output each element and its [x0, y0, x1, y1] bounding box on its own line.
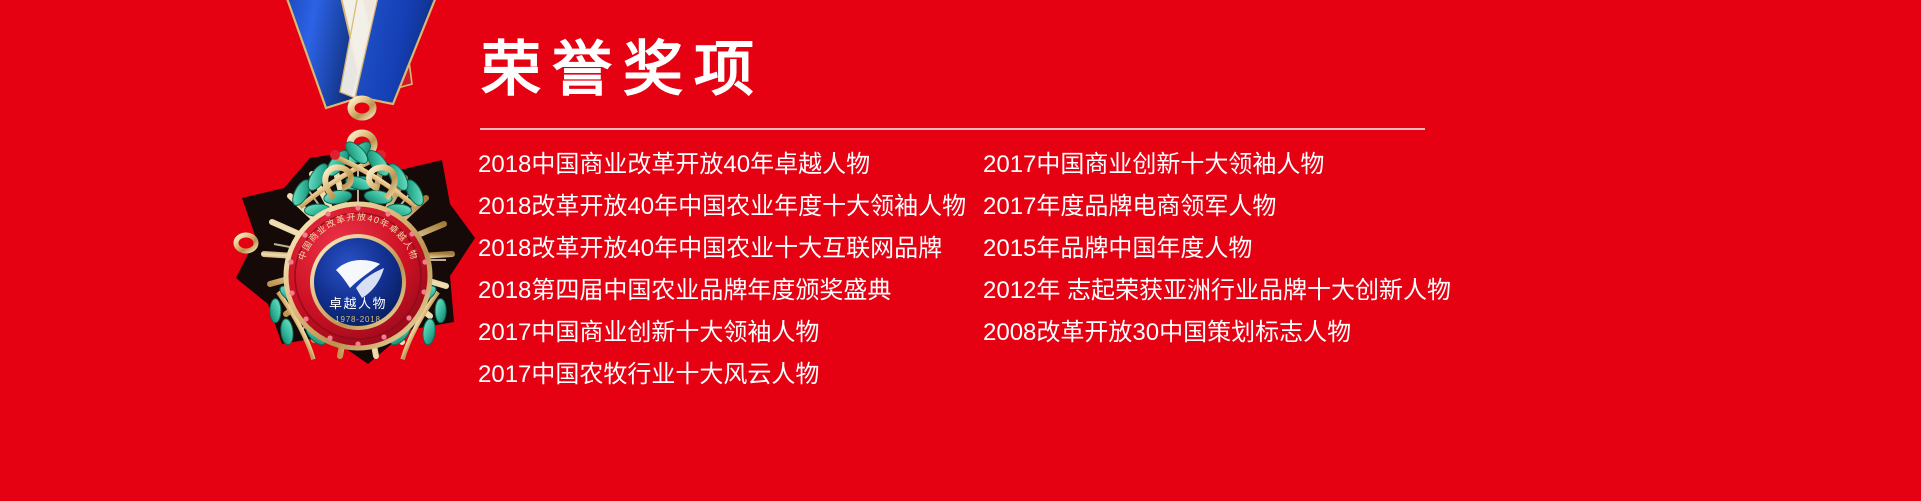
- awards-left-column: 2018中国商业改革开放40年卓越人物 2018改革开放40年中国农业年度十大领…: [478, 144, 983, 396]
- awards-right-column: 2017中国商业创新十大领袖人物 2017年度品牌电商领军人物 2015年品牌中…: [983, 144, 1683, 396]
- page-title: 荣誉奖项: [478, 38, 1878, 103]
- honor-medal-image: 中国商业改革开放40年卓越人物 卓越人物 1978-2018: [150, 0, 480, 412]
- list-item: 2018改革开放40年中国农业十大互联网品牌: [478, 228, 983, 270]
- svg-text:卓越人物: 卓越人物: [329, 296, 387, 311]
- list-item: 2018中国商业改革开放40年卓越人物: [478, 144, 983, 186]
- title-divider: [480, 128, 1425, 130]
- list-item: 2017年度品牌电商领军人物: [983, 186, 1683, 228]
- list-item: 2012年 志起荣获亚洲行业品牌十大创新人物: [983, 270, 1683, 312]
- awards-content: 荣誉奖项 2018中国商业改革开放40年卓越人物 2018改革开放40年中国农业…: [478, 38, 1878, 396]
- medal-center: 卓越人物 1978-2018: [312, 236, 404, 328]
- list-item: 2018改革开放40年中国农业年度十大领袖人物: [478, 186, 983, 228]
- list-item: 2015年品牌中国年度人物: [983, 228, 1683, 270]
- list-item: 2008改革开放30中国策划标志人物: [983, 312, 1683, 354]
- list-item: 2017中国商业创新十大领袖人物: [983, 144, 1683, 186]
- list-item: 2017中国农牧行业十大风云人物: [478, 354, 983, 396]
- awards-columns: 2018中国商业改革开放40年卓越人物 2018改革开放40年中国农业年度十大领…: [478, 144, 1878, 396]
- medal-ribbon: [274, 0, 450, 108]
- svg-text:1978-2018: 1978-2018: [335, 315, 380, 324]
- honor-awards-banner: 中国商业改革开放40年卓越人物 卓越人物 1978-2018 荣誉奖项 2018: [0, 0, 1921, 501]
- list-item: 2018第四届中国农业品牌年度颁奖盛典: [478, 270, 983, 312]
- list-item: 2017中国商业创新十大领袖人物: [478, 312, 983, 354]
- medal-pin: [236, 235, 256, 251]
